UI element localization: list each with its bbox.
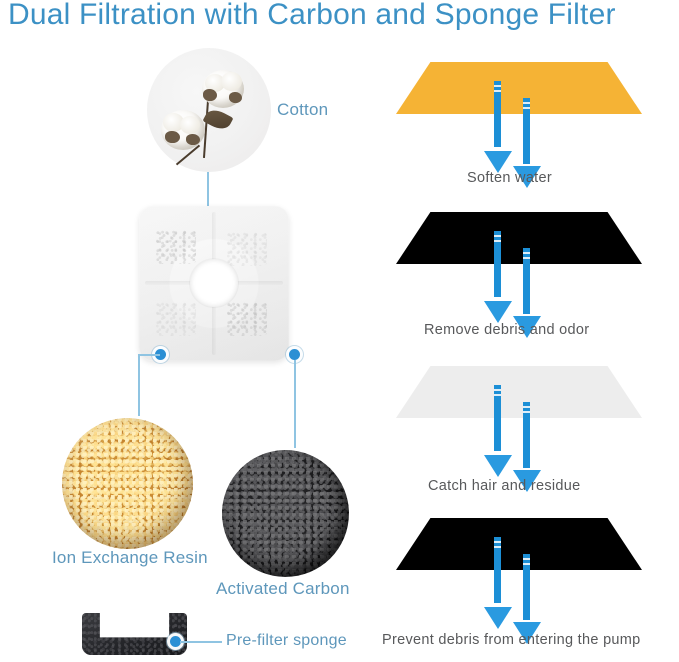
flow-arrow-shaft-right — [523, 248, 530, 314]
arrow-notch — [494, 90, 501, 92]
arrow-notch — [523, 107, 530, 109]
arrow-notch — [494, 389, 501, 391]
cotton-boll-lower — [161, 110, 205, 150]
filter-center-hole — [190, 259, 238, 307]
filter-layer-white — [396, 366, 642, 418]
filter-texture-patch — [227, 302, 267, 336]
caption-soften-water: Soften water — [467, 170, 552, 186]
flow-arrow-shaft-left — [494, 537, 501, 603]
activated-carbon-image — [222, 450, 349, 577]
arrow-notch — [523, 102, 530, 104]
filter-cartridge — [139, 206, 289, 361]
leader-line-resin-horizontal — [138, 354, 160, 356]
flow-arrow-head-left — [484, 607, 512, 629]
flow-arrow-shaft-left — [494, 81, 501, 147]
label-pre-filter-sponge: Pre-filter sponge — [226, 632, 347, 650]
cotton-husk — [186, 134, 200, 145]
infographic-canvas: Dual Filtration with Carbon and Sponge F… — [0, 0, 679, 662]
flow-arrow-shaft-right — [523, 402, 530, 468]
connector-dot-carbon — [289, 349, 300, 360]
filter-layer-black — [396, 212, 642, 264]
arrow-notch — [523, 257, 530, 259]
flow-arrow-shaft-right — [523, 98, 530, 164]
leader-line-carbon — [294, 360, 296, 448]
arrow-notch — [494, 394, 501, 396]
caption-remove-debris: Remove debris and odor — [424, 322, 589, 338]
leader-line-resin-vertical — [138, 354, 140, 416]
caption-prevent-debris: Prevent debris from entering the pump — [382, 632, 641, 648]
arrow-notch — [523, 411, 530, 413]
arrow-notch — [523, 558, 530, 560]
cotton-husk — [203, 89, 217, 101]
cotton-husk — [229, 92, 242, 103]
cotton-husk — [165, 131, 180, 143]
cotton-boll-upper — [202, 70, 244, 108]
ion-exchange-resin-image — [62, 418, 193, 549]
sponge-body — [82, 613, 187, 655]
arrow-notch — [494, 85, 501, 87]
leader-line-sponge — [180, 641, 222, 643]
flow-arrow-head-left — [484, 455, 512, 477]
caption-catch-hair: Catch hair and residue — [428, 478, 581, 494]
filter-layer-orange — [396, 62, 642, 114]
page-title: Dual Filtration with Carbon and Sponge F… — [8, 0, 616, 32]
arrow-notch — [523, 406, 530, 408]
cotton-boll-lobe — [180, 116, 200, 134]
cotton-image-circle — [147, 48, 271, 172]
flow-arrow-shaft-left — [494, 385, 501, 451]
flow-arrow-shaft-right — [523, 554, 530, 620]
label-activated-carbon: Activated Carbon — [216, 579, 350, 599]
arrow-notch — [523, 563, 530, 565]
filter-texture-patch — [156, 302, 196, 336]
arrow-notch — [494, 235, 501, 237]
arrow-notch — [494, 541, 501, 543]
arrow-notch — [523, 252, 530, 254]
flow-arrow-shaft-left — [494, 231, 501, 297]
label-cotton: Cotton — [277, 100, 328, 120]
cotton-boll-lobe — [221, 72, 242, 91]
pre-filter-sponge-image — [82, 613, 187, 655]
filter-texture-patch — [227, 232, 267, 266]
arrow-notch — [494, 240, 501, 242]
label-ion-exchange-resin: Ion Exchange Resin — [52, 548, 208, 568]
filter-layer-black — [396, 518, 642, 570]
filter-texture-patch — [156, 230, 196, 264]
arrow-notch — [494, 546, 501, 548]
flow-arrow-head-left — [484, 301, 512, 323]
